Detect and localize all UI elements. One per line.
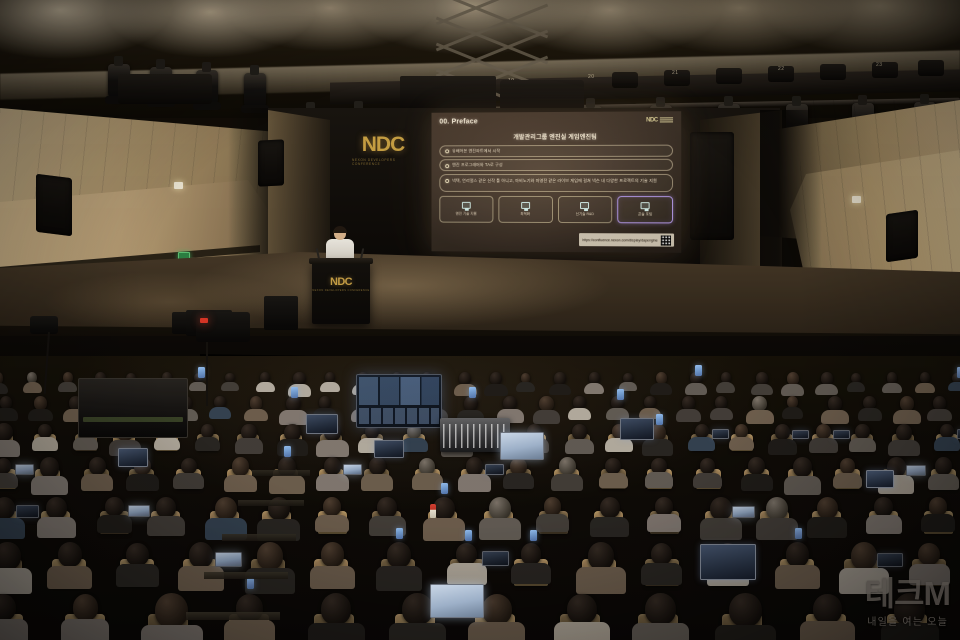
audience-head [855,424,869,439]
audience-head [38,424,52,438]
audience-torso [821,410,848,424]
slide-category-label: 콘솔 포팅 [638,212,652,217]
audience-torso [0,440,20,457]
audience-laptop [866,470,894,488]
audience-head [559,457,576,475]
audience-head [105,497,123,516]
audience-head [369,457,386,475]
projector-pod [400,76,496,110]
audience-torso [0,473,18,489]
audience-torso [315,515,349,533]
audience-torso [412,473,443,489]
audience-head [645,593,675,625]
audience-torso [576,567,626,593]
audience-torso [642,439,673,455]
slide-ndc-logo: NDC [646,117,673,123]
audience-torso [47,566,92,590]
aisle-step [186,612,280,620]
audience-head [40,457,59,477]
audience-head [489,497,511,520]
audience-torso [700,518,742,540]
audience-head [510,458,526,475]
slide-category-box: 신기술 R&D [557,196,612,223]
audience-torso [308,623,365,640]
audience-head [225,373,234,383]
audience-torso [882,383,902,394]
right-wall-speaker [886,210,918,262]
left-av-pod [118,74,212,104]
audience-head [821,372,833,384]
audience-head [464,396,478,411]
audience-torso [116,564,159,586]
water-bottle [430,504,436,518]
aisle-step [238,500,304,506]
audience-head [655,497,672,515]
audience-head [419,458,435,475]
wall-light-right [852,196,861,203]
audience-head [89,457,106,475]
audience-head [710,497,732,520]
scissor-arm [436,0,548,38]
audience-torso [809,438,837,453]
audience-torso [568,408,591,420]
monitor-icon [641,202,650,209]
audience-head [929,497,947,516]
audience-torso [533,410,561,424]
audience-head [940,424,953,438]
audience-head [787,372,799,385]
audience-head [241,424,256,440]
slide-bullet-row: 넥텍, 언리얼스 같은 신작 툴 아니고, 마비노기와 마영전 같은 라이브 게… [439,174,673,192]
audience-torso [784,476,821,495]
slide-category-label: 최적화 [520,211,530,216]
audience-head [46,497,67,519]
audience-torso [693,473,722,488]
audience-torso [32,437,58,451]
audience-torso [565,439,594,454]
audience-torso [645,472,674,487]
audience-head [466,457,484,475]
audience-torso [676,409,701,422]
audience-head [286,396,301,412]
audience-torso [858,408,882,421]
audience-head [840,458,855,474]
audience-torso [551,474,583,491]
audience-torso [915,383,935,393]
audience-head [816,424,831,440]
audience-head [752,396,767,411]
tripod-center-mid [206,336,208,406]
audience-laptop [128,505,151,518]
ndc-logo-subtitle: NEXON DEVELOPERS CONFERENCE [352,158,414,166]
audience-torso [921,514,955,532]
slide-bullet-list: 유배어본 엔진파트에서 시작엔진 프로그래머와 TA로 구성넥텍, 언리얼스 같… [439,145,673,192]
podium: NDC NEXON DEVELOPERS CONFERENCE [312,262,370,324]
audience-torso [685,383,707,395]
audience-torso [751,384,773,396]
stage-left-case [264,296,298,330]
audience-torso [849,438,876,452]
audience-torso [235,438,264,453]
audience-torso [888,440,920,457]
audience-torso [881,623,939,640]
qr-code-icon [661,235,671,245]
audience-torso [893,410,920,424]
monitor-icon [580,202,589,209]
audience-phone [617,389,624,400]
audience-torso [361,474,393,491]
audience-torso [28,409,52,422]
slide-category-label: 엔진 기술 지원 [456,211,477,216]
audience-head [756,372,768,384]
audience-torso [934,437,960,450]
audience-phone [656,414,663,425]
audience-head [813,594,841,624]
stage-light-fixture [244,73,266,109]
scissor-arm [436,4,548,52]
audience-torso [447,563,487,584]
audience-torso [484,384,507,396]
audience-head [786,542,809,567]
podium-top [309,258,373,264]
audience-torso [632,623,690,640]
ndc-wall-logo: NDC NEXON DEVELOPERS CONFERENCE [352,132,414,166]
back-left-speaker [258,139,284,186]
audience-head [817,497,838,519]
truss-number-label: 22 [778,66,785,72]
audience-laptop [343,464,363,475]
audience-head [156,497,176,518]
audience-torso [909,564,950,586]
audience-torso [221,382,239,391]
audience-head [729,593,761,627]
audience-torso [224,475,258,493]
audience-head [828,396,842,411]
slide-title: 개발관리그룹 엔진실 게임엔진팀 [439,131,673,141]
audience-torso [189,382,207,391]
slide-bullet-row: 엔진 프로그래머와 TA로 구성 [439,159,673,171]
audience-torso [549,384,571,396]
audience-torso [269,475,305,494]
audience-phone [441,483,448,494]
slide-header: 00. Preface NDC [439,117,673,131]
audience-head [933,396,946,410]
audience-head [250,396,263,410]
aisle-step [252,470,310,476]
audience-torso [277,439,308,455]
audience-head [748,457,765,475]
audience-head [503,396,517,411]
bullet-marker-icon [445,164,449,168]
audience-laptop [500,432,544,460]
audience-phone [198,367,205,378]
audience-torso [316,474,349,491]
audience-torso [746,410,774,425]
audience-head [700,458,715,474]
audience-head [894,593,925,625]
audience-head [181,458,197,475]
audience-head [651,458,666,474]
audience-torso [503,473,534,489]
broadcast-camera-body [196,312,250,342]
audience-head [567,594,596,625]
audience-torso [741,474,773,491]
audience-torso [141,625,203,640]
audience-head [715,396,727,409]
audience-torso [97,515,132,533]
camera-tally-light [200,318,208,323]
audience-torso [554,622,609,640]
slide-bullet-text: 넥텍, 언리얼스 같은 신작 툴 아니고, 마비노기와 마영전 같은 라이브 게… [452,178,657,184]
monitor-icon [462,202,471,209]
audience-torso [847,382,866,392]
audience-torso [195,437,221,451]
audience-torso [647,514,680,531]
audience-torso [584,383,605,394]
conference-hall-photo: 1920212223 NDC NEXON DEVELOPERS CONFEREN… [0,0,960,640]
audience-phone [695,365,702,376]
audience-torso [0,568,32,594]
wall-light-left [174,182,183,189]
audience-torso [756,518,798,540]
audience-torso [37,517,76,538]
monitor-icon [521,202,530,209]
podium-logo: NDC [312,276,370,288]
audience-head [544,497,561,515]
audience-torso [800,621,854,640]
left-wall-speaker [36,174,72,236]
bullet-marker-icon [445,179,449,183]
audience-torso [31,476,68,495]
mixer-faders [443,424,507,448]
ceiling-fixture-box [612,72,638,88]
audience-head [918,543,940,566]
audience-torso [279,410,307,425]
audience-head [539,396,553,411]
audience-head [793,457,812,477]
slide-url-text: https://confluence.nexon.com/display/dap… [582,238,657,242]
audience-torso [590,517,629,538]
audience-head [321,542,345,567]
slide-content: 00. Preface NDC 개발관리그룹 엔진실 게임엔진팀 유배어본 엔진… [432,111,682,253]
audience-laptop [906,465,926,476]
audience-head [920,372,930,383]
audience-head [0,396,12,409]
audience-head [874,497,893,517]
audience-torso [782,407,803,418]
audience-laptop [833,430,850,439]
audience-torso [423,518,466,540]
audience-torso [511,563,551,584]
audience-head [521,543,542,565]
audience-head [58,542,82,567]
audience-torso [389,623,447,640]
av-pod [500,80,584,110]
audience-head [155,593,188,627]
audience-head [0,372,3,383]
audience-torso [927,409,951,422]
audience-head [554,372,566,384]
audience-torso [73,437,98,450]
audience-torso [256,382,275,392]
audience-head [735,424,748,438]
audience-torso [0,383,8,394]
audience-laptop [732,506,755,519]
audience-head [232,457,250,476]
audience-phone [469,387,476,398]
podium-logo-subtitle: NEXON DEVELOPERS CONFERENCE [312,289,370,292]
audience-torso [839,568,889,594]
ceiling-fixture-box [918,60,944,76]
audience-head [695,424,709,439]
audience-head [323,497,341,516]
audience-phone [530,530,537,541]
audience-torso [605,438,633,453]
equipment-rack [78,378,188,438]
audience-torso [768,439,798,455]
slide-bullet-text: 유배어본 엔진파트에서 시작 [452,148,500,154]
truss-number-label: 21 [672,70,679,76]
audience-torso [244,409,268,422]
audience-torso [688,437,714,451]
audience-torso [58,382,77,392]
audience-torso [641,563,681,584]
audience-head [766,497,788,520]
audience-torso [61,619,109,640]
audience-head [215,497,237,520]
audience-head [935,457,952,475]
audience-torso [815,384,837,396]
audience-torso [401,438,428,452]
audience-head [377,497,397,517]
audience-torso [0,518,25,539]
audience-laptop [482,551,509,566]
audience-head [324,457,341,475]
truss-number-label: 20 [588,74,595,80]
audience-laptop [15,464,35,475]
audience-head [402,593,432,625]
scissor-arm [436,30,548,78]
audience-head [863,396,876,409]
camera-light-left [30,316,58,334]
audience-torso [316,440,348,457]
audience-laptop [620,418,654,440]
audience-torso [154,437,180,450]
audience-torso [599,473,628,488]
audience-torso [536,514,569,531]
audience-head [482,594,512,625]
audience-torso [0,619,28,640]
audience-phone [795,528,802,539]
audience-head [572,424,587,440]
audience-head [321,593,351,625]
audience-torso [81,474,113,491]
audience-head [896,424,913,441]
audience-torso [173,473,203,489]
audience-head [189,542,213,568]
slide-logo-text: NDC [646,117,658,123]
audience-head [887,372,898,383]
audience-head [775,424,791,440]
audience-torso [807,517,847,538]
audience-torso [715,625,777,640]
audience-torso [310,566,355,590]
slide-bullet-row: 유배어본 엔진파트에서 시작 [439,145,673,158]
audience-torso [0,408,18,421]
audience-head [433,497,455,521]
audience-torso [775,565,820,588]
audience-torso [23,382,42,392]
audience-head [605,458,620,474]
audience-phone [284,446,291,457]
audience-head [456,543,477,565]
audience-laptop [700,544,756,580]
audience-torso [126,474,158,491]
audience-head [600,497,621,519]
audience-head [651,543,672,565]
monitor-multiview-top [359,377,439,405]
audience-torso [781,384,804,396]
audience-torso [224,620,275,640]
aisle-step [204,572,288,579]
audience-laptop [16,505,39,518]
audience-torso [516,382,534,392]
preview-monitor [356,374,442,428]
audience-head [284,424,300,441]
audience-torso [147,516,184,536]
audience-head [73,594,98,621]
projection-screen: 00. Preface NDC 개발관리그룹 엔진실 게임엔진팀 유배어본 엔진… [432,111,682,253]
audience-laptop [215,552,242,567]
audience-torso [320,382,339,392]
audience-torso [716,382,735,392]
audience-laptop [374,440,404,458]
audience-torso [468,622,525,640]
aisle-step [222,534,296,541]
audience-laptop [792,430,809,439]
rack-stripe [83,417,183,422]
audience-phone [465,530,472,541]
slide-category-boxes: 엔진 기술 지원최적화신기술 R&D콘솔 포팅 [439,196,673,224]
audience-torso [376,566,423,591]
audience-phone [247,578,254,589]
audience-phone [291,387,298,398]
audience-head [257,542,283,570]
audience-torso [928,474,960,491]
audience-head [682,396,695,410]
audience-laptop [712,429,729,438]
audience-laptop [485,464,505,475]
bullet-marker-icon [445,150,449,154]
back-right-speaker-stack [690,132,734,240]
audience-torso [833,473,862,488]
audience-head [201,424,215,438]
audience-torso [729,437,754,450]
audience-torso [948,382,960,392]
audience-torso [650,383,672,394]
audience-head [644,396,656,408]
audience-torso [479,518,521,540]
audience-torso [209,407,231,419]
audience-laptop [877,553,904,568]
slide-url-bar: https://confluence.nexon.com/display/dap… [579,233,674,247]
slide-category-label: 신기술 R&D [576,211,594,216]
audience-laptop [118,448,148,467]
slide-logo-bars-icon [660,117,673,123]
slide-category-box: 콘솔 포팅 [618,196,674,223]
audience-torso [710,408,733,420]
audience-head [0,542,21,570]
